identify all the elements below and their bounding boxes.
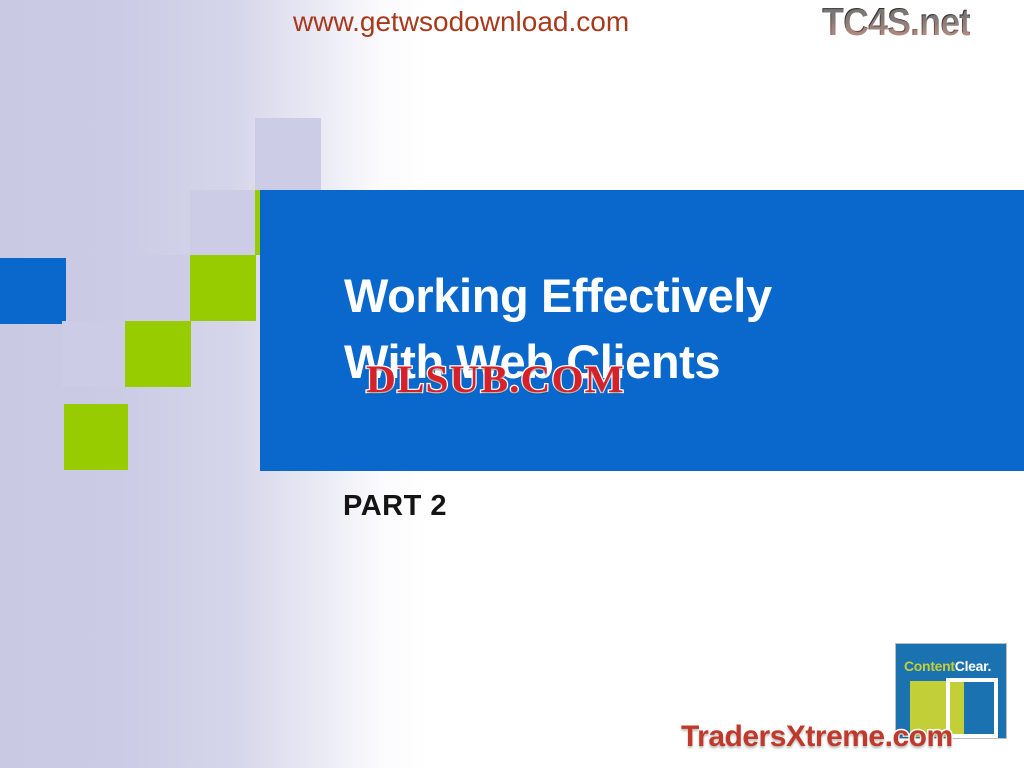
tc4s-logo-watermark: TC4S.net [822,1,970,45]
subtitle: PART 2 [343,490,447,523]
mosaic-square-lavender [62,321,128,387]
tradersxtreme-banner-watermark: TradersXtreme.com [681,720,953,754]
site-url-watermark: www.getwsodownload.com [293,6,629,38]
dlsub-watermark: DLSUB.COM [366,357,625,402]
mosaic-square-green [64,404,128,470]
contentclear-logo-word-content: Content [904,658,955,674]
presentation-slide: Working Effectively With Web Clients DLS… [0,0,1024,768]
mosaic-square-lavender [125,255,191,321]
mosaic-square-green [190,255,256,321]
contentclear-logo-word-clear: Clear. [955,658,991,674]
contentclear-logo-white-frame [946,678,998,738]
mosaic-square-blue [0,258,66,324]
page-title-line-1: Working Effectively [344,263,1004,329]
mosaic-square-lavender [255,118,321,190]
mosaic-square-green [125,321,191,387]
contentclear-logo-wordmark: ContentClear. [904,658,991,674]
mosaic-square-lavender [190,190,256,255]
